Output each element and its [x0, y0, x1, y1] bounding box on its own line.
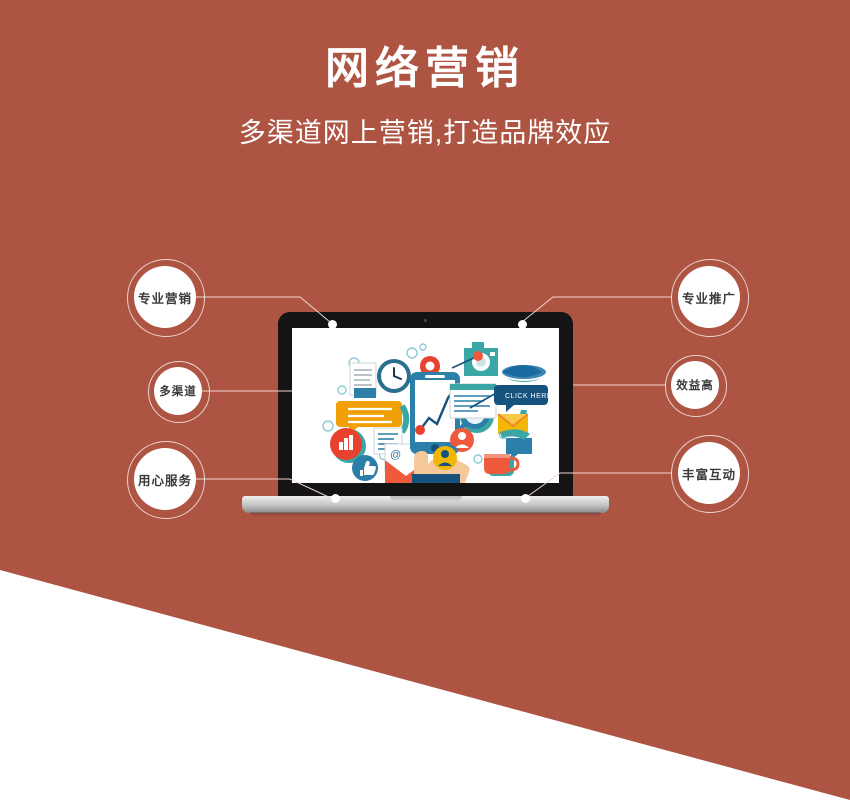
feature-label-left-3: 用心服务 [138, 470, 192, 489]
marker-dot-top-right [518, 320, 527, 329]
feature-circle-right-1[interactable]: 专业推广 [678, 266, 740, 328]
marker-dot-bottom-right [521, 494, 530, 503]
feature-circle-left-3[interactable]: 用心服务 [134, 448, 196, 510]
feature-label-right-1: 专业推广 [682, 288, 736, 307]
feature-circle-left-2[interactable]: 多渠道 [154, 367, 202, 415]
feature-circle-right-3[interactable]: 丰富互动 [678, 442, 740, 504]
feature-label-left-1: 专业营销 [138, 288, 192, 307]
feature-label-right-3: 丰富互动 [682, 464, 736, 483]
feature-label-right-2: 效益高 [676, 377, 714, 393]
poster-canvas: 网络营销 多渠道网上营销,打造品牌效应 [0, 0, 850, 812]
marker-dot-bottom-left [331, 494, 340, 503]
feature-circle-right-2[interactable]: 效益高 [671, 361, 719, 409]
feature-circle-left-1[interactable]: 专业营销 [134, 266, 196, 328]
feature-label-left-2: 多渠道 [159, 383, 197, 399]
marker-dot-top-left [328, 320, 337, 329]
connector-lines [0, 0, 850, 812]
